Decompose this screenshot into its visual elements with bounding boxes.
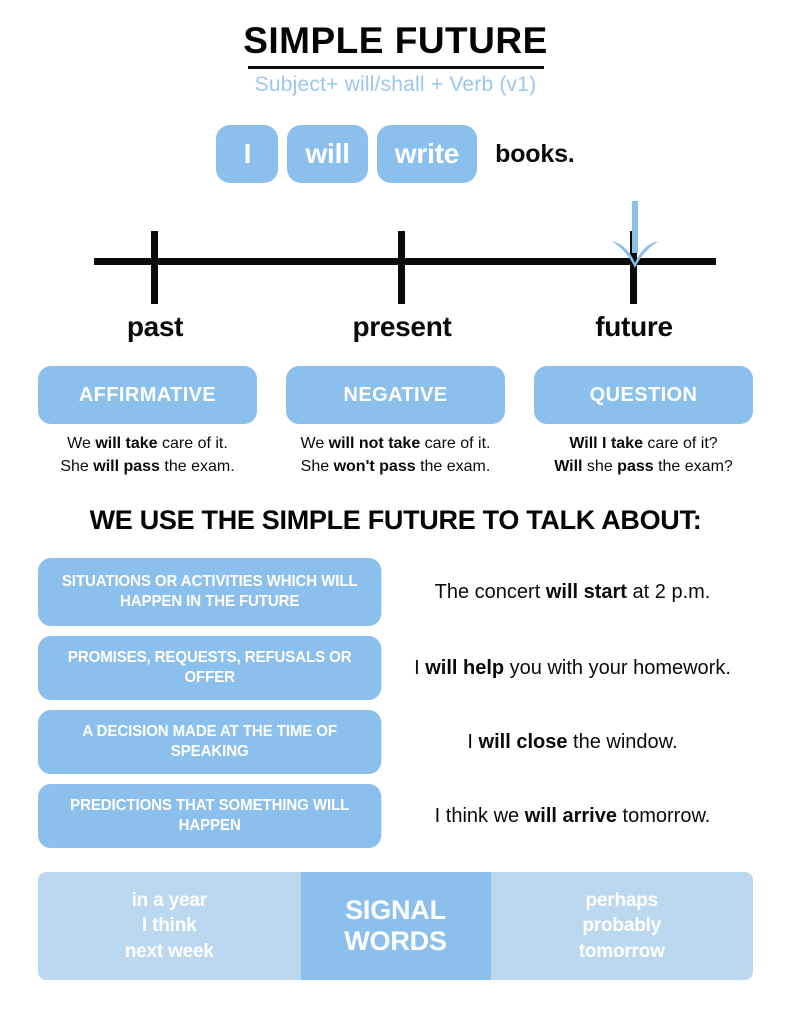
infographic-page: SIMPLE FUTURE Subject+ will/shall + Verb… (0, 0, 791, 1024)
down-arrow-icon (607, 201, 663, 269)
form-badge-question: QUESTION (534, 366, 753, 424)
example-sentence: I will write books. (0, 125, 791, 183)
header: SIMPLE FUTURE Subject+ will/shall + Verb… (0, 22, 791, 98)
chip-subject: I (216, 125, 278, 183)
page-title: SIMPLE FUTURE (0, 22, 791, 61)
timeline-tick-past (151, 231, 158, 304)
usage-row: SITUATIONS OR ACTIVITIES WHICH WILL HAPP… (38, 558, 753, 626)
signal-words-right: perhapsprobablytomorrow (491, 872, 754, 980)
usage-example: I think we will arrive tomorrow. (392, 803, 753, 829)
signal-words-left: in a yearI thinknext week (38, 872, 301, 980)
formula-subtitle: Subject+ will/shall + Verb (v1) (0, 71, 791, 98)
usage-pill: PROMISES, REQUESTS, REFUSALS OR OFFER (38, 636, 381, 700)
signal-words-bar: in a yearI thinknext week SIGNALWORDS pe… (38, 872, 753, 980)
form-examples-affirmative: We will take care of it.She will pass th… (60, 433, 234, 478)
timeline-label-past: past (127, 311, 183, 343)
timeline-label-future: future (595, 311, 673, 343)
chip-verb: write (377, 125, 477, 183)
usage-row: PREDICTIONS THAT SOMETHING WILL HAPPEN I… (38, 784, 753, 848)
form-column-question: QUESTION Will I take care of it?Will she… (534, 366, 753, 478)
usage-pill: PREDICTIONS THAT SOMETHING WILL HAPPEN (38, 784, 381, 848)
timeline-label-present: present (352, 311, 451, 343)
usage-example: I will close the window. (392, 729, 753, 755)
form-badge-negative: NEGATIVE (286, 366, 505, 424)
usage-row: PROMISES, REQUESTS, REFUSALS OR OFFER I … (38, 636, 753, 700)
form-column-negative: NEGATIVE We will not take care of it.She… (286, 366, 505, 478)
form-column-affirmative: AFFIRMATIVE We will take care of it.She … (38, 366, 257, 478)
usage-pill: A DECISION MADE AT THE TIME OF SPEAKING (38, 710, 381, 774)
usage-heading: WE USE THE SIMPLE FUTURE TO TALK ABOUT: (0, 505, 791, 536)
form-columns: AFFIRMATIVE We will take care of it.She … (38, 366, 753, 478)
usage-row: A DECISION MADE AT THE TIME OF SPEAKING … (38, 710, 753, 774)
usage-example: The concert will start at 2 p.m. (392, 579, 753, 605)
timeline: past present future (0, 196, 791, 346)
usage-pill: SITUATIONS OR ACTIVITIES WHICH WILL HAPP… (38, 558, 381, 626)
timeline-tick-present (398, 231, 405, 304)
usage-example: I will help you with your homework. (392, 655, 753, 681)
form-examples-question: Will I take care of it?Will she pass the… (554, 433, 733, 478)
example-object: books. (495, 140, 574, 169)
title-divider (248, 66, 544, 69)
chip-auxiliary: will (287, 125, 367, 183)
form-examples-negative: We will not take care of it.She won't pa… (301, 433, 491, 478)
usage-list: SITUATIONS OR ACTIVITIES WHICH WILL HAPP… (38, 558, 753, 858)
signal-words-title: SIGNALWORDS (301, 872, 491, 980)
form-badge-affirmative: AFFIRMATIVE (38, 366, 257, 424)
